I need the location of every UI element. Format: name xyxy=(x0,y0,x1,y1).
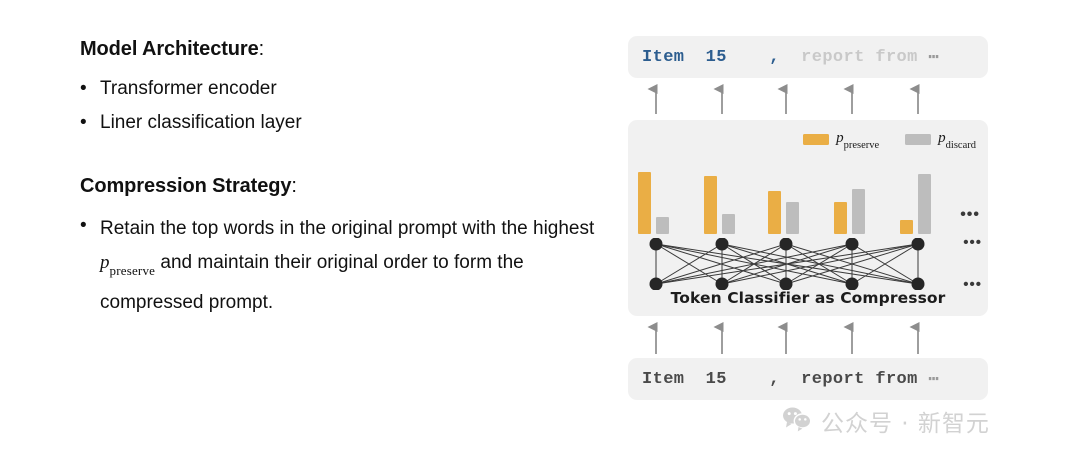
bullet-marker-icon: • xyxy=(80,109,100,136)
bar-discard xyxy=(852,189,865,234)
section-heading-colon: : xyxy=(291,175,296,197)
legend-var-p: p xyxy=(938,130,946,146)
compressed-prompt-panel: Item 15 , report from ⋯ xyxy=(628,36,988,78)
bullet-marker-icon: • xyxy=(80,212,100,239)
bar-preserve xyxy=(704,176,717,234)
bar-preserve xyxy=(900,220,913,234)
token-ellipsis-icon: ⋯ xyxy=(928,47,938,68)
legend-sub-discard: discard xyxy=(946,140,976,151)
probability-legend: ppreserve pdiscard xyxy=(803,130,976,149)
math-subscript-preserve: preserve xyxy=(110,263,156,278)
arrow-group-classifier xyxy=(656,327,918,354)
token-probability-bar-chart: ••• xyxy=(628,154,988,234)
slide-text-column: Model Architecture: • Transformer encode… xyxy=(80,38,610,326)
list-item: • Transformer encoder xyxy=(80,75,610,103)
section-heading-colon: : xyxy=(259,38,264,60)
classifier-caption: Token Classifier as Compressor xyxy=(628,289,988,307)
compressed-prompt-row: Item 15 , report from ⋯ xyxy=(628,36,988,78)
token-report: report xyxy=(801,370,865,389)
legend-swatch-discard-icon xyxy=(905,134,931,145)
bullet-text: Retain the top words in the original pro… xyxy=(100,212,610,320)
watermark-text: 公众号 · 新智元 xyxy=(821,404,990,438)
section-compression-strategy: Compression Strategy: • Retain the top w… xyxy=(80,175,610,320)
token-from: from xyxy=(875,370,917,389)
section-heading-text: Compression Strategy xyxy=(80,175,291,197)
bar-discard xyxy=(786,202,799,234)
list-item: • Retain the top words in the original p… xyxy=(80,212,610,320)
legend-label-p-preserve: ppreserve xyxy=(836,130,879,149)
token-from: from xyxy=(875,48,917,67)
bar-discard xyxy=(722,214,735,234)
bar-discard xyxy=(656,217,669,234)
legend-swatch-preserve-icon xyxy=(803,134,829,145)
bar-preserve xyxy=(638,172,651,234)
bar-discard xyxy=(918,174,931,234)
bullet-text: Transformer encoder xyxy=(100,75,277,103)
bullet-list-compression: • Retain the top words in the original p… xyxy=(80,212,610,320)
compressor-diagram: Item 15 , report from ⋯ ppre xyxy=(628,36,988,400)
original-prompt-row: Item 15 , report from ⋯ xyxy=(628,358,988,400)
bars-ellipsis-icon: ••• xyxy=(960,206,980,224)
bullet-text: Liner classification layer xyxy=(100,109,302,137)
network-ellipsis-top-icon: ••• xyxy=(963,234,982,251)
legend-entry-p-discard: pdiscard xyxy=(905,130,976,149)
section-heading-model-architecture: Model Architecture: xyxy=(80,38,610,61)
legend-label-p-discard: pdiscard xyxy=(938,130,976,149)
legend-var-p: p xyxy=(836,130,844,146)
section-heading-text: Model Architecture xyxy=(80,38,259,60)
wechat-icon xyxy=(782,406,812,437)
watermark: 公众号 · 新智元 xyxy=(782,404,990,438)
token-report: report xyxy=(801,48,865,67)
math-variable-p: p xyxy=(100,252,110,273)
token-15: 15 xyxy=(706,48,727,67)
legend-entry-p-preserve: ppreserve xyxy=(803,130,879,149)
arrow-band-up-to-output xyxy=(628,80,988,118)
section-heading-compression-strategy: Compression Strategy: xyxy=(80,175,610,198)
bullet-text-after: and maintain their original order to for… xyxy=(100,252,524,313)
token-comma: , xyxy=(769,370,780,389)
legend-sub-preserve: preserve xyxy=(844,140,880,151)
bullet-marker-icon: • xyxy=(80,75,100,102)
list-item: • Liner classification layer xyxy=(80,109,610,137)
token-15: 15 xyxy=(706,370,727,389)
token-classifier-panel: ppreserve pdiscard ••• ••• ••• Token Cla… xyxy=(628,120,988,316)
token-comma: , xyxy=(769,48,780,67)
arrow-group-output xyxy=(656,89,918,114)
token-ellipsis-icon: ⋯ xyxy=(928,369,938,390)
neural-network-graphic: ••• ••• xyxy=(628,238,988,290)
token-item: Item xyxy=(642,370,684,389)
bullet-text-before: Retain the top words in the original pro… xyxy=(100,218,594,239)
bullet-list-architecture: • Transformer encoder • Liner classifica… xyxy=(80,75,610,137)
original-prompt-panel: Item 15 , report from ⋯ xyxy=(628,358,988,400)
arrow-band-up-to-classifier xyxy=(628,318,988,356)
bar-preserve xyxy=(834,202,847,234)
section-model-architecture: Model Architecture: • Transformer encode… xyxy=(80,38,610,137)
token-item: Item xyxy=(642,48,684,67)
bar-preserve xyxy=(768,191,781,234)
